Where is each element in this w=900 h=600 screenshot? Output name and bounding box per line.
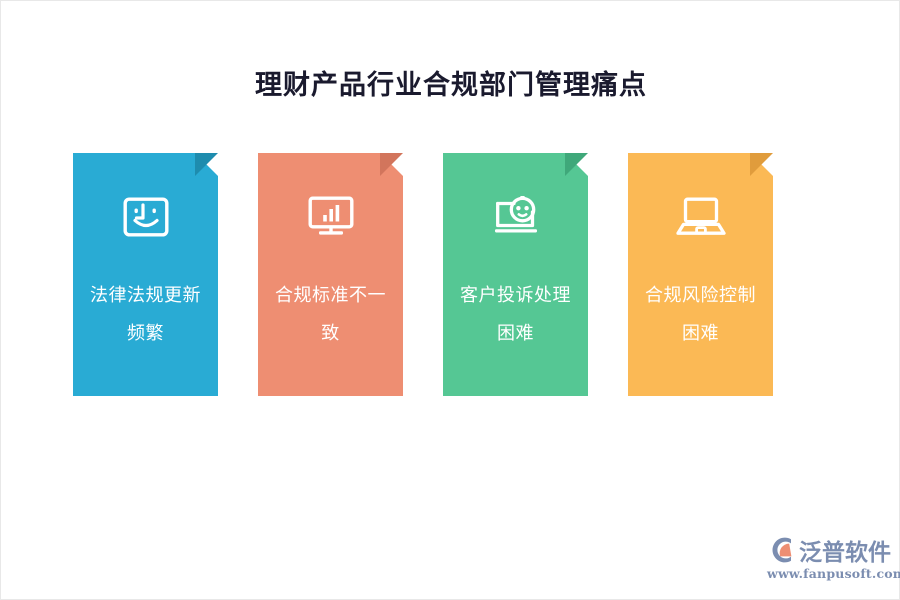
card-label: 客户投诉处理困难 [452, 277, 580, 353]
finder-face-icon [119, 193, 173, 241]
pain-point-card[interactable]: 法律法规更新频繁 [73, 153, 218, 396]
card-corner-fold [750, 153, 773, 176]
card-label: 合规风险控制困难 [637, 277, 765, 353]
page-title: 理财产品行业合规部门管理痛点 [1, 63, 900, 102]
laptop-icon [674, 193, 728, 241]
logo-top-row: 泛普软件 [767, 535, 887, 565]
logo-url-text: www.fanpusoft.com [767, 566, 887, 581]
pain-point-card[interactable]: 客户投诉处理困难 [443, 153, 588, 396]
logo-brand-text: 泛普软件 [799, 533, 891, 567]
poster-canvas: 理财产品行业合规部门管理痛点 法律法规更新频繁 [0, 0, 900, 600]
card-corner-fold [195, 153, 218, 176]
laptop-robot-icon [489, 193, 543, 241]
monitor-chart-icon [304, 193, 358, 241]
pain-point-card[interactable]: 合规风险控制困难 [628, 153, 773, 396]
card-corner-fold [565, 153, 588, 176]
fanpu-logo-mark-icon [767, 535, 797, 565]
card-corner-fold [380, 153, 403, 176]
card-label: 合规标准不一致 [267, 277, 395, 353]
brand-logo[interactable]: 泛普软件 www.fanpusoft.com [767, 535, 887, 581]
pain-point-card-row: 法律法规更新频繁 合规标准不一致 [73, 153, 773, 396]
pain-point-card[interactable]: 合规标准不一致 [258, 153, 403, 396]
card-label: 法律法规更新频繁 [82, 277, 210, 353]
